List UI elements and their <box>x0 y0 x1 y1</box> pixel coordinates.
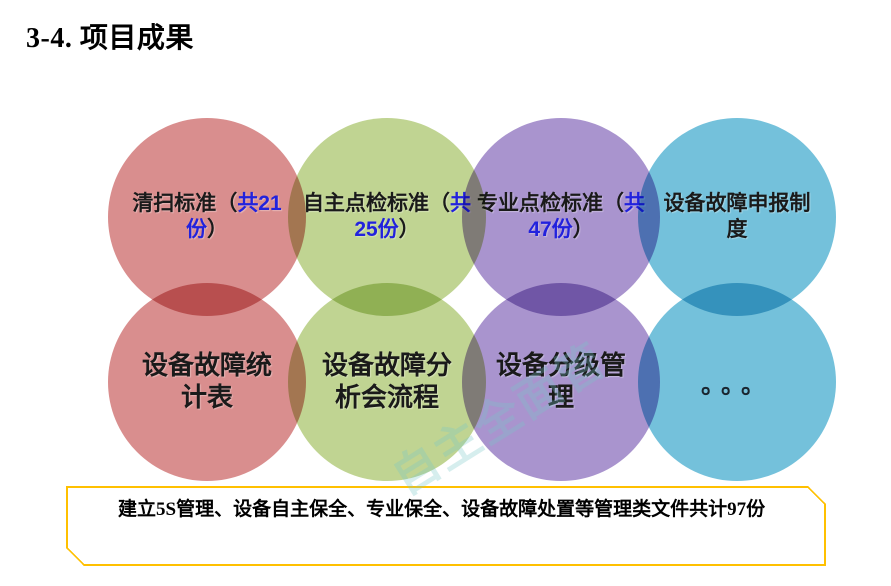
circle-text-main: 专业点检标准 <box>477 192 603 215</box>
circle-label-fault-analysis-meeting-process: 设备故障分析会流程 <box>309 350 465 413</box>
circle-more-ellipsis[interactable]: 。。。 <box>638 283 836 481</box>
paren-open: （ <box>216 192 237 215</box>
paren-close: ） <box>399 218 420 241</box>
paren-open: （ <box>429 192 450 215</box>
circle-label-fault-statistics-table: 设备故障统计表 <box>129 350 285 413</box>
paren-close: ） <box>207 218 228 241</box>
circle-text-main: 清扫标准 <box>132 192 216 215</box>
summary-callout-box: 建立5S管理、设备自主保全、专业保全、设备故障处置等管理类文件共计97份 <box>66 486 826 566</box>
paren-close: ） <box>573 218 594 241</box>
circle-label-more-ellipsis: 。。。 <box>701 365 773 400</box>
circle-label-professional-inspection-standard: 专业点检标准（共47份） <box>462 191 660 242</box>
summary-text: 建立5S管理、设备自主保全、专业保全、设备故障处置等管理类文件共计97份 <box>80 496 812 524</box>
circle-label-cleaning-standard: 清扫标准（共21份） <box>108 191 306 242</box>
circle-label-equipment-grading-management: 设备分级管理 <box>486 350 637 413</box>
circle-label-self-inspection-standard: 自主点检标准（共25份） <box>288 191 486 242</box>
circle-fault-statistics-table[interactable]: 设备故障统计表 <box>108 283 306 481</box>
circle-equipment-grading-management[interactable]: 设备分级管理 <box>462 283 660 481</box>
circle-fault-analysis-meeting-process[interactable]: 设备故障分析会流程 <box>288 283 486 481</box>
circle-text-main: 自主点检标准 <box>303 192 429 215</box>
circle-label-fault-report-system: 设备故障申报制度 <box>654 191 820 242</box>
paren-open: （ <box>603 192 624 215</box>
